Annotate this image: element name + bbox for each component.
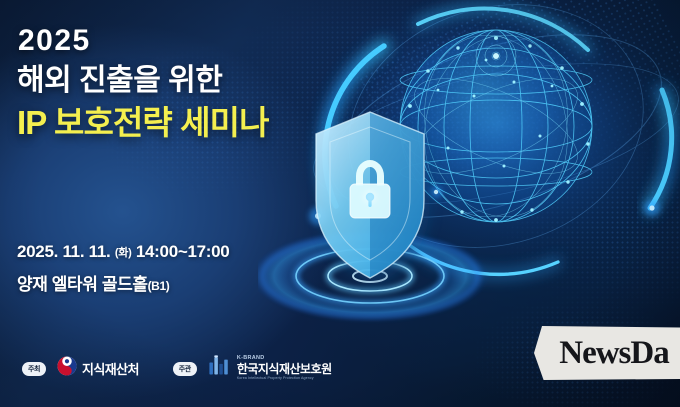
poster-subtitle: 해외 진출을 위한 <box>17 64 396 98</box>
event-info-group: 2025. 11. 11. (화) 14:00~17:00 양재 엘타워 골드홀… <box>17 242 377 295</box>
event-venue-line: 양재 엘타워 골드홀(B1) <box>17 270 377 295</box>
event-time: 14:00~17:00 <box>131 242 229 261</box>
newsda-watermark: NewsDa <box>534 326 680 380</box>
event-day-of-week: (화) <box>115 247 132 259</box>
taegeuk-icon <box>57 356 77 381</box>
event-venue-floor: (B1) <box>148 279 170 293</box>
koipa-bars-icon <box>208 354 232 383</box>
organizer-org-name-en: Korea Intellectual Property Protection A… <box>237 377 332 381</box>
organizer-role-badge: 주관 <box>173 362 197 376</box>
host-org: 지식재산처 <box>57 356 139 381</box>
event-date-line: 2025. 11. 11. (화) 14:00~17:00 <box>17 242 377 262</box>
poster-title: IP 보호전략 세미나 <box>17 105 396 141</box>
poster-canvas: 2025 해외 진출을 위한 IP 보호전략 세미나 2025. 11. 11.… <box>0 0 680 407</box>
organizer-text: K-BRAND 한국지식재산보호원 Korea Intellectual Pro… <box>237 356 332 380</box>
organizer-org: K-BRAND 한국지식재산보호원 Korea Intellectual Pro… <box>208 354 332 383</box>
host-org-name: 지식재산처 <box>82 359 139 378</box>
event-venue: 양재 엘타워 골드홀 <box>17 275 148 294</box>
poster-year: 2025 <box>18 26 396 56</box>
sponsor-footer: 주최 지식재산처 주관 <box>22 354 332 383</box>
headline-group: 2025 해외 진출을 위한 IP 보호전략 세미나 <box>16 26 396 141</box>
organizer-org-name: 한국지식재산보호원 <box>237 363 332 375</box>
event-date: 2025. 11. 11. <box>17 242 115 261</box>
host-role-badge: 주최 <box>22 362 46 376</box>
watermark-label: NewsDa <box>559 335 668 372</box>
